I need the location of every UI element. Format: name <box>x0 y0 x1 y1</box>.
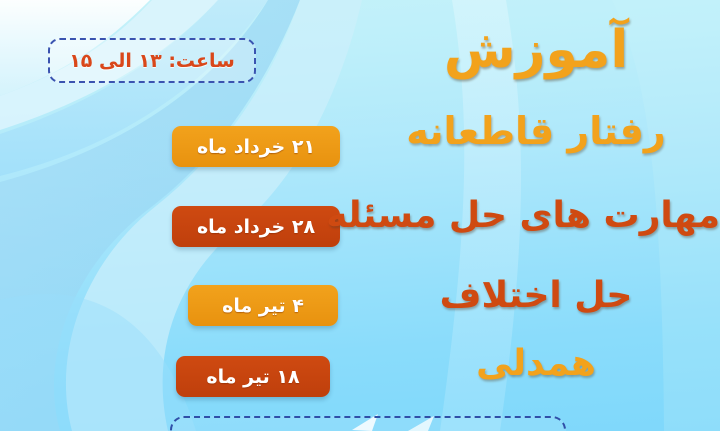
date-button-4[interactable]: ۱۸ تیر ماه <box>176 356 330 397</box>
course-column: آموزش رفتار قاطعانه مهارت های حل مسئله ح… <box>352 0 720 431</box>
poster-heading: آموزش <box>352 24 720 76</box>
date-button-4-label: ۱۸ تیر ماه <box>206 366 299 388</box>
date-button-3-label: ۴ تیر ماه <box>222 295 304 317</box>
date-button-1-label: ۲۱ خرداد ماه <box>197 136 315 158</box>
time-badge-label: ساعت: ۱۳ الی ۱۵ <box>69 50 235 72</box>
date-button-3[interactable]: ۴ تیر ماه <box>188 285 338 326</box>
course-title-3: حل اختلاف <box>352 278 720 314</box>
date-button-2-label: ۲۸ خرداد ماه <box>197 216 315 238</box>
course-title-2: مهارت های حل مسئله <box>352 198 720 234</box>
poster-canvas: ساعت: ۱۳ الی ۱۵ ۲۱ خرداد ماه ۲۸ خرداد ما… <box>0 0 720 431</box>
date-button-1[interactable]: ۲۱ خرداد ماه <box>172 126 340 167</box>
course-title-1: رفتار قاطعانه <box>352 112 720 150</box>
time-badge: ساعت: ۱۳ الی ۱۵ <box>48 38 256 83</box>
course-title-4: همدلی <box>352 346 720 382</box>
bottom-dashed-panel <box>170 416 566 431</box>
date-button-2[interactable]: ۲۸ خرداد ماه <box>172 206 340 247</box>
schedule-column: ساعت: ۱۳ الی ۱۵ ۲۱ خرداد ماه ۲۸ خرداد ما… <box>0 0 360 431</box>
